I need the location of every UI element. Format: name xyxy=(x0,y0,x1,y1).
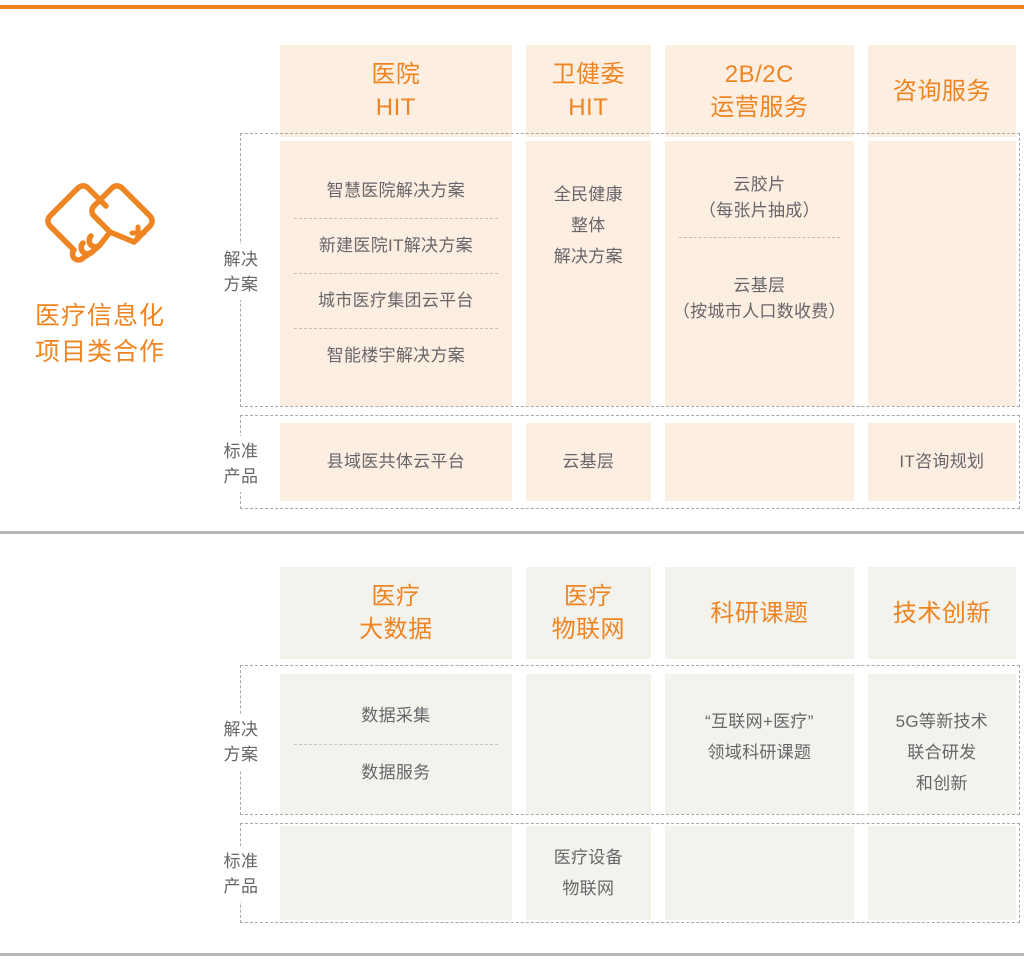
cell-innovation-products xyxy=(868,826,1016,920)
cell-consulting-solutions xyxy=(868,141,1016,406)
cell-iot-products: 医疗设备 物联网 xyxy=(526,826,651,920)
column-header-medical-iot: 医疗 物联网 xyxy=(526,567,651,659)
partnership-matrix-diagram: 医疗信息化 项目类合作 医院 HIT 卫健委 HIT 2B/2C 运营服务 咨询… xyxy=(0,0,1024,959)
column-gap xyxy=(651,826,665,920)
column-gap xyxy=(512,567,526,659)
column-header-health-commission-hit: 卫健委 HIT xyxy=(526,45,651,137)
cell-2b2c-solutions: 云胶片 （每张片抽成） 云基层 （按城市人口数收费） xyxy=(665,141,854,406)
cell-separator xyxy=(679,237,840,238)
column-gap xyxy=(512,826,526,920)
column-gap xyxy=(512,423,526,501)
category-healthcare-it: 医疗信息化 项目类合作 xyxy=(0,169,200,370)
cell-innovation-solutions: 5G等新技术 联合研发 和创新 xyxy=(868,674,1016,814)
matrix-row-standard-products: 县域医共体云平台 云基层 IT咨询规划 xyxy=(280,423,1016,501)
row-label-solutions: 解决 方案 xyxy=(212,244,270,300)
column-gap xyxy=(651,423,665,501)
cell-big-data-products xyxy=(280,826,512,920)
column-header-research-topics: 科研课题 xyxy=(665,567,854,659)
cell-big-data-solutions: 数据采集 数据服务 xyxy=(280,674,512,814)
column-gap xyxy=(854,141,868,406)
cell-research-solutions: “互联网+医疗” 领域科研课题 xyxy=(665,674,854,814)
matrix-row-solutions: 智慧医院解决方案 新建医院IT解决方案 城市医疗集团云平台 智能楼宇解决方案 xyxy=(280,141,1016,406)
column-gap xyxy=(651,674,665,814)
column-gap xyxy=(512,674,526,814)
column-gap xyxy=(651,45,665,137)
cell-iot-solutions xyxy=(526,674,651,814)
matrix-header-row: 医院 HIT 卫健委 HIT 2B/2C 运营服务 咨询服务 xyxy=(280,45,1016,137)
column-gap xyxy=(854,567,868,659)
row-label-standard-products: 标准 产品 xyxy=(212,436,270,492)
handshake-medical-icon xyxy=(0,169,200,282)
column-gap xyxy=(512,45,526,137)
bottom-divider-rule xyxy=(0,953,1024,956)
matrix-row-solutions: 数据采集 数据服务 “互联网+医疗” 领域科研课题 xyxy=(280,674,1016,814)
cell-consulting-products: IT咨询规划 xyxy=(868,423,1016,501)
cell-research-products xyxy=(665,826,854,920)
column-header-medical-big-data: 医疗 大数据 xyxy=(280,567,512,659)
cell-hospital-hit-products: 县域医共体云平台 xyxy=(280,423,512,501)
column-gap xyxy=(854,45,868,137)
column-gap xyxy=(651,567,665,659)
column-gap xyxy=(651,141,665,406)
category-title: 医疗信息化 项目类合作 xyxy=(0,298,200,370)
section-new-tech-markets: 新技术与 新市场类合作 医疗 大数据 医疗 物联网 科研课题 技术创新 xyxy=(0,534,1024,953)
cell-hospital-hit-solutions: 智慧医院解决方案 新建医院IT解决方案 城市医疗集团云平台 智能楼宇解决方案 xyxy=(280,141,512,406)
column-gap xyxy=(854,423,868,501)
column-header-2b2c-operations: 2B/2C 运营服务 xyxy=(665,45,854,137)
column-gap xyxy=(854,674,868,814)
cell-health-commission-solutions: 全民健康 整体 解决方案 xyxy=(526,141,651,406)
row-label-solutions: 解决 方案 xyxy=(212,714,270,770)
column-gap xyxy=(512,141,526,406)
column-gap xyxy=(854,826,868,920)
column-header-consulting-services: 咨询服务 xyxy=(868,45,1016,137)
column-header-tech-innovation: 技术创新 xyxy=(868,567,1016,659)
cell-2b2c-products xyxy=(665,423,854,501)
cell-health-commission-products: 云基层 xyxy=(526,423,651,501)
section-healthcare-it: 医疗信息化 项目类合作 医院 HIT 卫健委 HIT 2B/2C 运营服务 咨询… xyxy=(0,9,1024,531)
row-label-standard-products: 标准 产品 xyxy=(212,846,270,902)
matrix-header-row: 医疗 大数据 医疗 物联网 科研课题 技术创新 xyxy=(280,567,1016,659)
column-header-hospital-hit: 医院 HIT xyxy=(280,45,512,137)
matrix-row-standard-products: 医疗设备 物联网 xyxy=(280,826,1016,920)
